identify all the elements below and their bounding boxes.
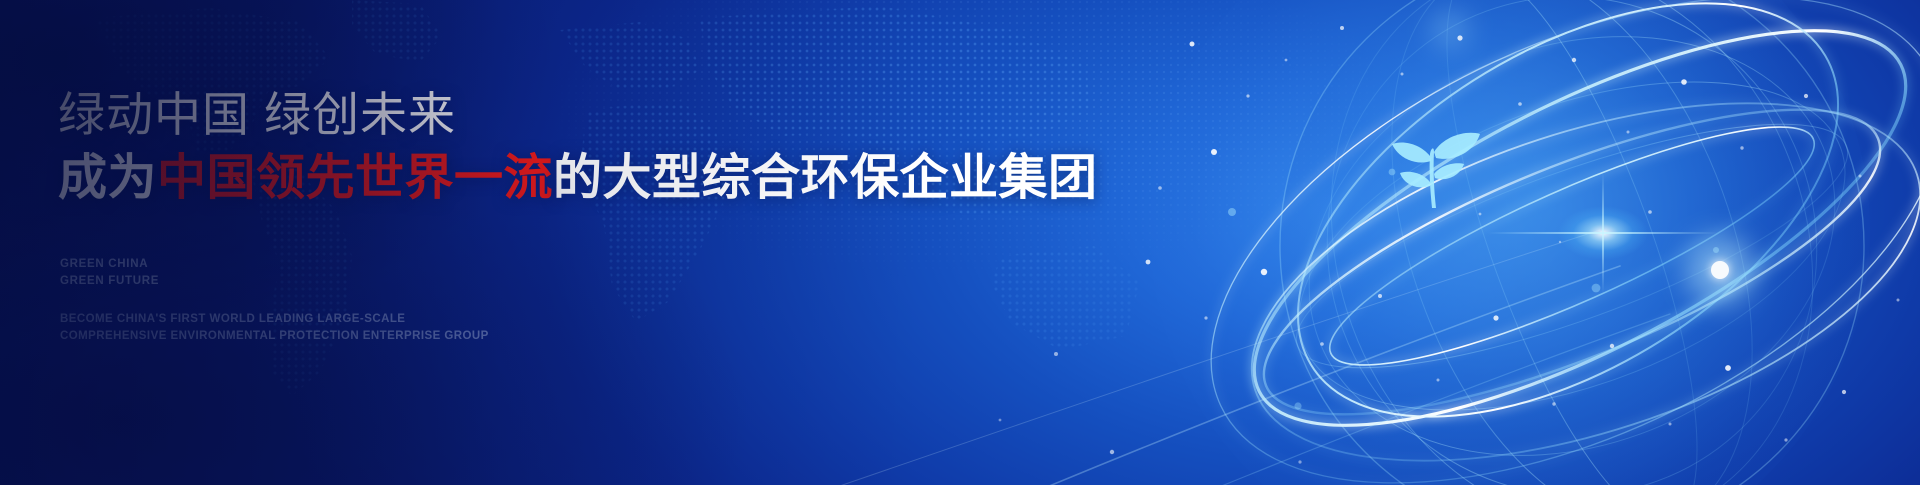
- hero-banner: 绿动中国 绿创未来 成为中国领先世界一流的大型综合环保企业集团 GREEN CH…: [0, 0, 1920, 485]
- background-vignette: [0, 0, 1920, 485]
